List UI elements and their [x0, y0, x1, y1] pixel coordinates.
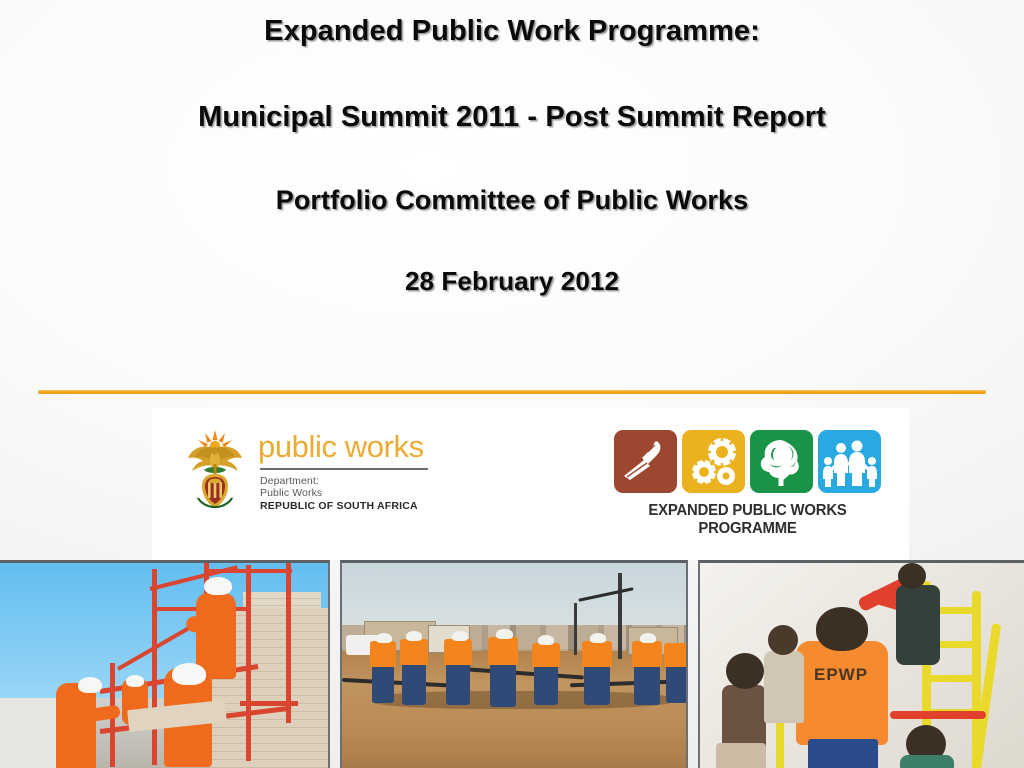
gears-icon — [682, 430, 745, 493]
subtitle-committee: Portfolio Committee of Public Works — [0, 184, 1024, 216]
epwp-logo: EXPANDED PUBLIC WORKS PROGRAMME — [605, 430, 890, 538]
photo-strip: EPWP — [0, 560, 1024, 768]
epwp-tiles — [605, 430, 890, 493]
photo-playground-children: EPWP — [698, 560, 1024, 768]
dpw-wordmark: public works — [258, 430, 428, 464]
dpw-sub-line-3: REPUBLIC OF SOUTH AFRICA — [260, 500, 428, 513]
subtitle-summit: Municipal Summit 2011 - Post Summit Repo… — [0, 100, 1024, 134]
dpw-sub-line-1: Department: — [260, 475, 428, 488]
dpw-text-lockup: public works Department: Public Works RE… — [258, 424, 428, 512]
dpw-logo: public works Department: Public Works RE… — [182, 424, 428, 516]
trowel-icon — [614, 430, 677, 493]
tree-icon — [750, 430, 813, 493]
dpw-sub-line-2: Public Works — [260, 487, 428, 500]
presentation-date: 28 February 2012 — [0, 266, 1024, 296]
presentation-slide: Expanded Public Work Programme: Municipa… — [0, 0, 1024, 768]
epwp-caption: EXPANDED PUBLIC WORKS PROGRAMME — [611, 502, 885, 538]
south-african-coat-of-arms-icon — [182, 424, 248, 516]
family-icon — [818, 430, 881, 493]
title-block: Expanded Public Work Programme: Municipa… — [0, 14, 1024, 296]
photo-cable-pulling-crew — [340, 560, 688, 768]
page-title: Expanded Public Work Programme: — [0, 14, 1024, 48]
horizontal-divider — [38, 390, 986, 394]
dpw-subtext: Department: Public Works REPUBLIC OF SOU… — [260, 475, 428, 513]
logo-band: public works Department: Public Works RE… — [152, 408, 909, 560]
photo-bricklaying-scaffold: EPWP — [0, 560, 330, 768]
dpw-rule — [260, 468, 428, 470]
